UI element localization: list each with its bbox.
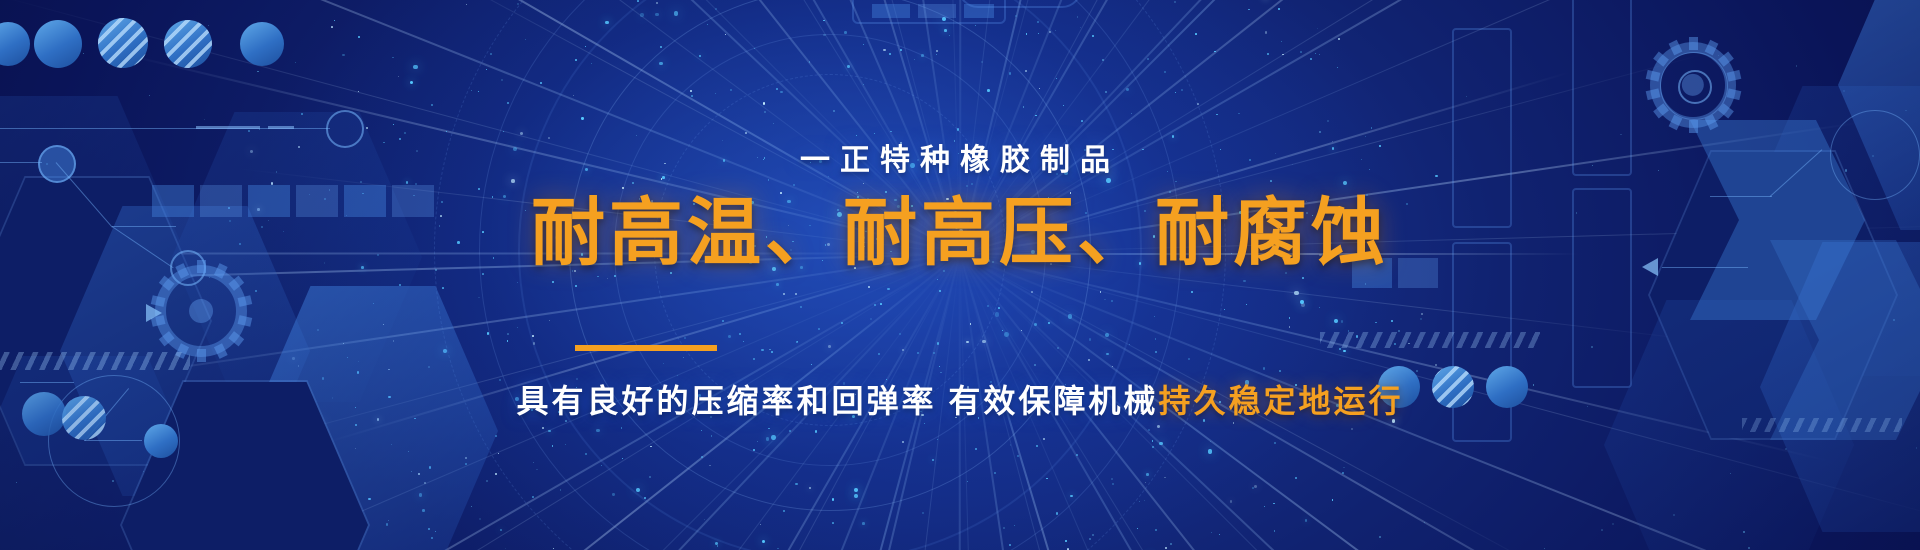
hero-subtitle: 具有良好的压缩率和回弹率 有效保障机械持久稳定地运行 [0,376,1920,422]
title-divider [575,345,717,351]
hero-content: 一正特种橡胶制品 耐高温、耐高压、耐腐蚀 具有良好的压缩率和回弹率 有效保障机械… [0,0,1920,550]
hero-subtitle-accent: 持久稳定地运行 [1158,383,1403,419]
brand-eyebrow: 一正特种橡胶制品 [0,135,1920,179]
hero-subtitle-white: 具有良好的压缩率和回弹率 有效保障机械 [517,383,1159,419]
hero-banner: 一正特种橡胶制品 耐高温、耐高压、耐腐蚀 具有良好的压缩率和回弹率 有效保障机械… [0,0,1920,550]
page-title: 耐高温、耐高压、耐腐蚀 [0,196,1920,270]
